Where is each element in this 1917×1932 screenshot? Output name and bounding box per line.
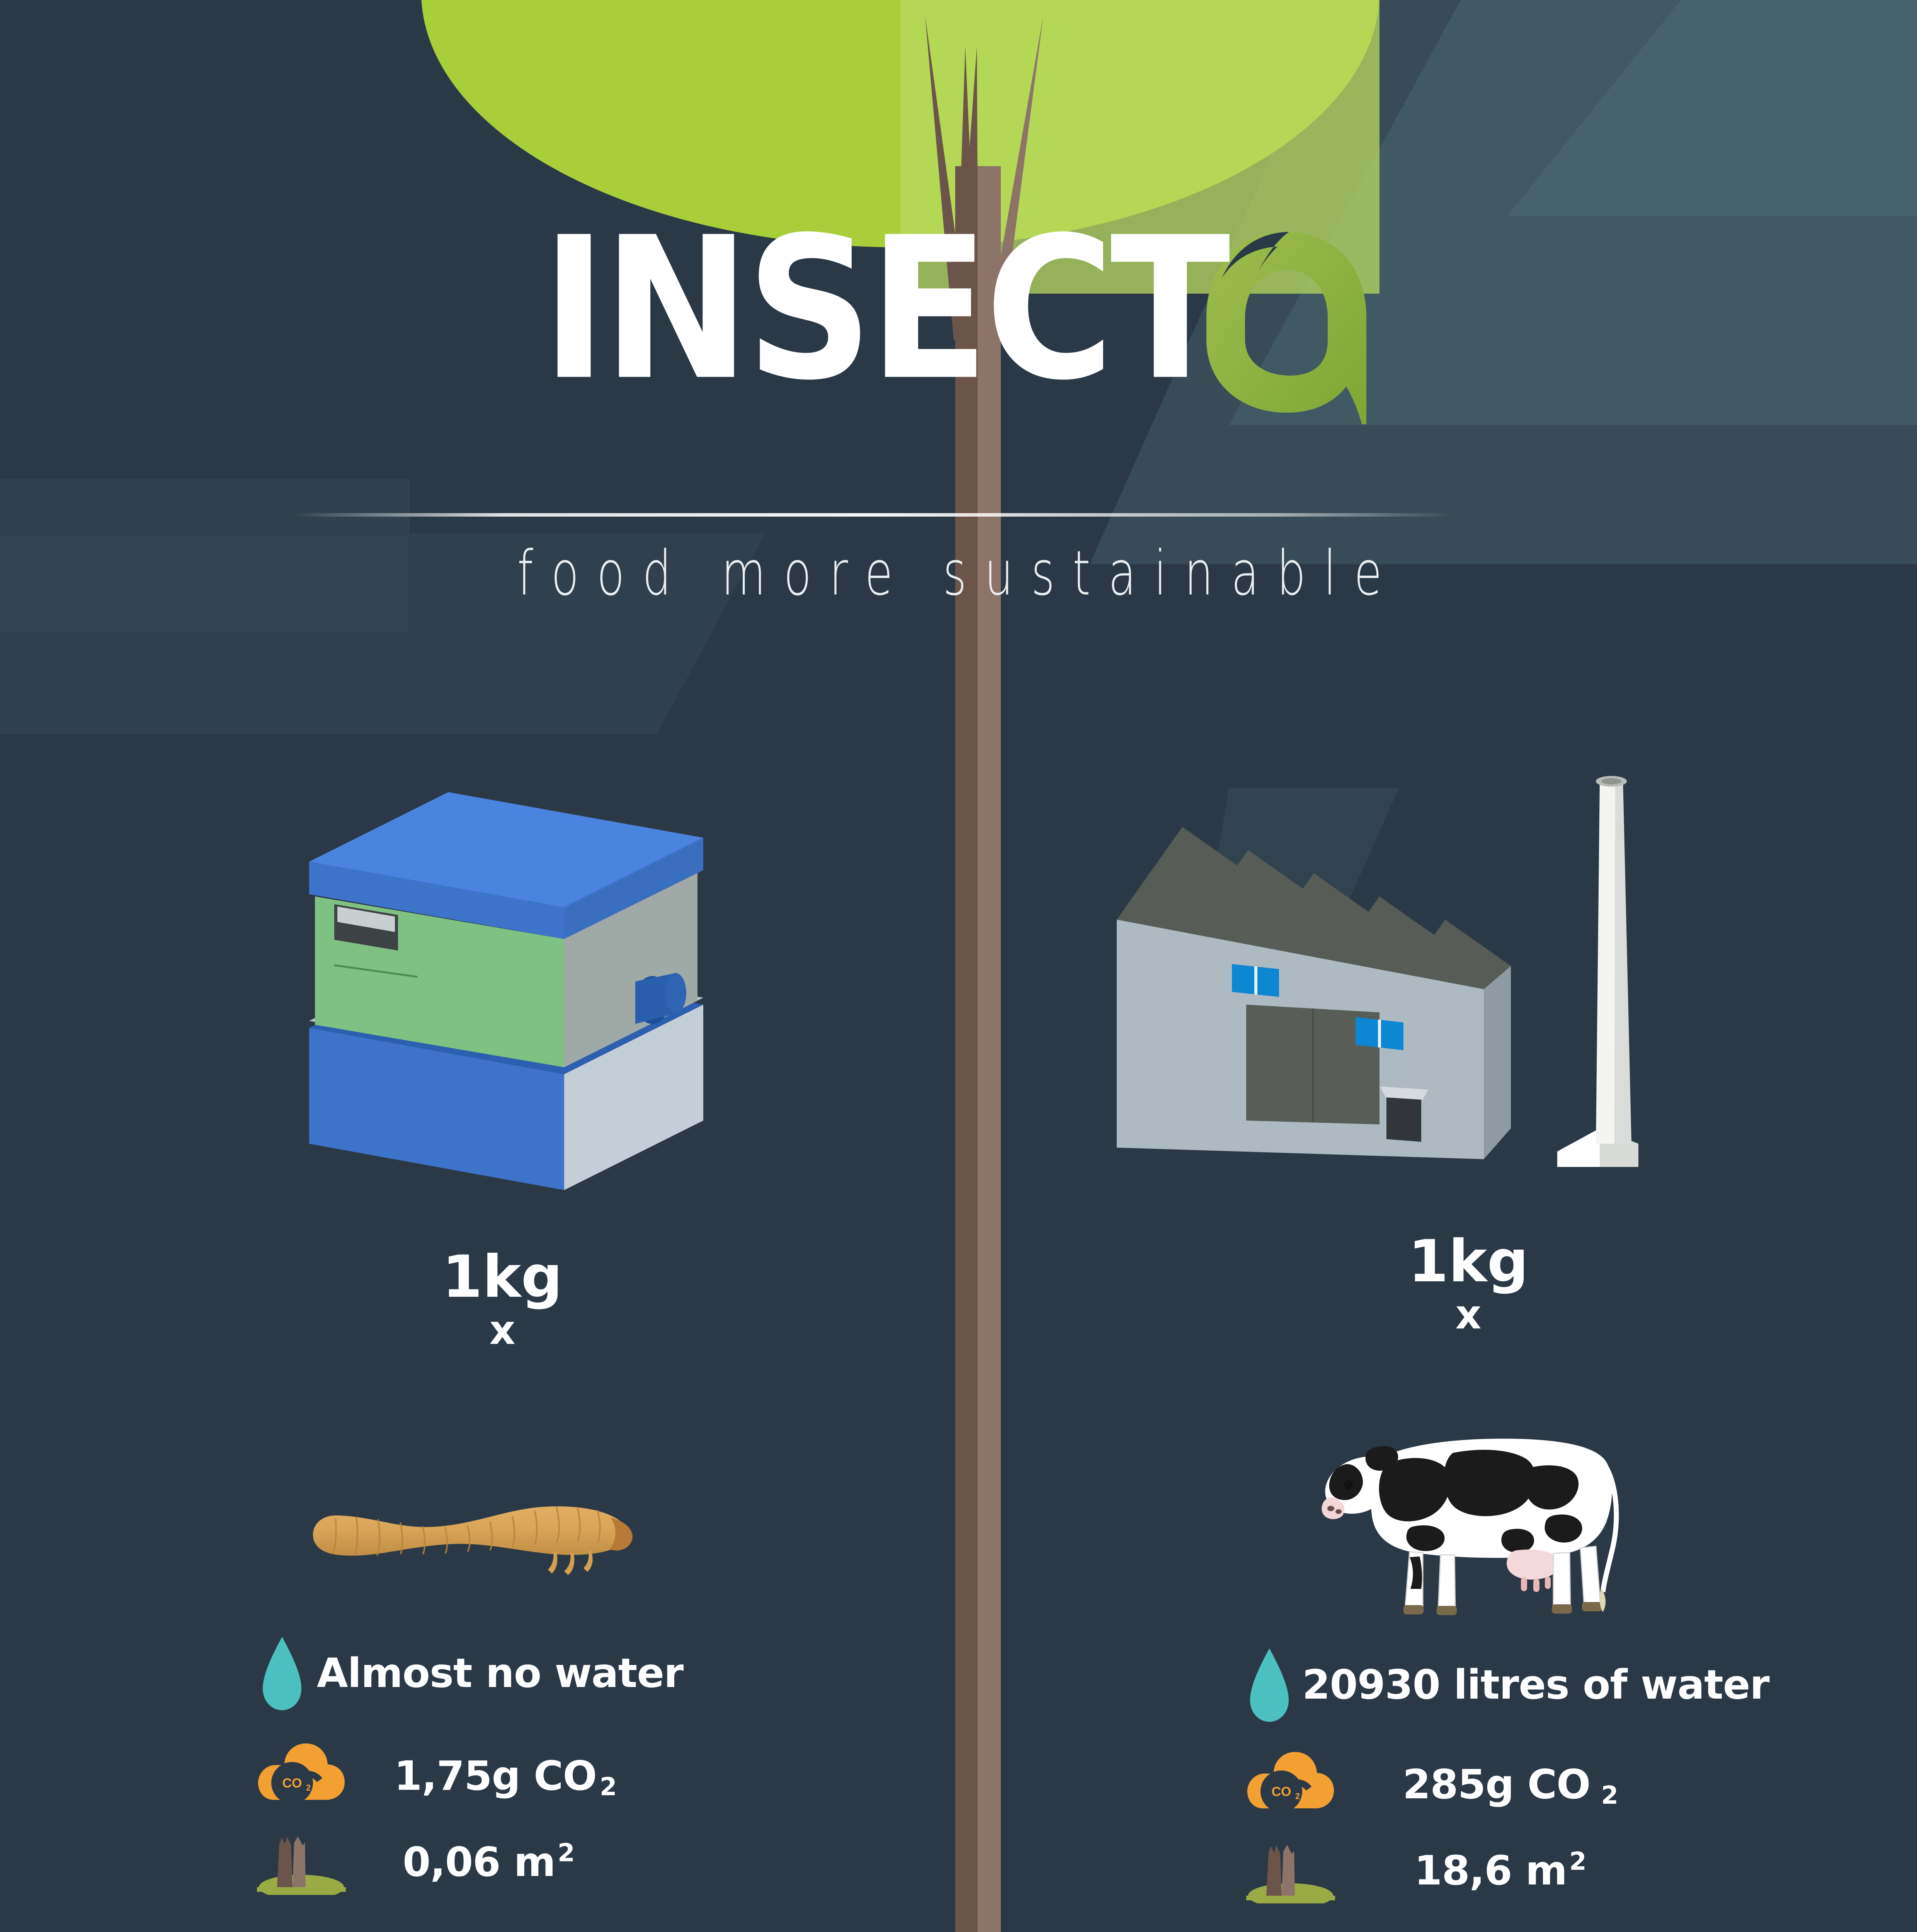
svg-text:2: 2 bbox=[306, 1783, 311, 1793]
logo-wordmark: INSECT bbox=[541, 216, 1226, 403]
left-stats-list: Almost no water CO 2 1,75g CO2 bbox=[247, 1634, 683, 1895]
svg-text:2: 2 bbox=[1295, 1791, 1300, 1801]
land-stumps-icon bbox=[247, 1829, 356, 1895]
right-multiplier: x bbox=[1252, 1291, 1685, 1339]
stat-row-water: 20930 litres of water bbox=[1237, 1646, 1769, 1723]
land-stumps-icon bbox=[1237, 1838, 1345, 1903]
left-amount-value: 1kg bbox=[286, 1248, 719, 1306]
water-drop-icon bbox=[247, 1634, 317, 1712]
stat-row-land: 0,06 m2 bbox=[247, 1829, 683, 1895]
water-drop-icon bbox=[1237, 1646, 1302, 1723]
svg-text:CO: CO bbox=[1272, 1784, 1291, 1799]
stat-land-number: 0,06 m bbox=[403, 1838, 555, 1886]
stat-co2-number: 1,75g CO bbox=[394, 1752, 597, 1799]
right-amount-label: 1kg x bbox=[1252, 1233, 1685, 1339]
stat-row-co2: CO 2 1,75g CO2 bbox=[247, 1742, 683, 1811]
stat-land-superscript: 2 bbox=[1567, 1847, 1586, 1876]
mealworm-image bbox=[286, 1468, 645, 1584]
left-amount-label: 1kg x bbox=[286, 1248, 719, 1354]
stat-land-superscript: 2 bbox=[555, 1839, 575, 1867]
stat-land-number: 18,6 m bbox=[1414, 1847, 1567, 1894]
co2-cloud-icon: CO 2 bbox=[247, 1742, 356, 1811]
right-amount-value: 1kg bbox=[1252, 1233, 1685, 1291]
stat-row-land: 18,6 m2 bbox=[1237, 1838, 1769, 1903]
stat-land-value: 18,6 m2 bbox=[1345, 1847, 1586, 1894]
brand-logo: INSECT bbox=[0, 216, 1917, 425]
insect-rearing-box-illustration bbox=[286, 734, 719, 1190]
stat-co2-subscript: 2 bbox=[597, 1773, 617, 1801]
infographic-poster: INSECT food more sustainable bbox=[0, 0, 1917, 1932]
stat-co2-value: 285g CO2 bbox=[1345, 1761, 1618, 1810]
stat-co2-subscript: 2 bbox=[1590, 1781, 1618, 1810]
stat-co2-value: 1,75g CO2 bbox=[356, 1752, 617, 1801]
logo-divider-rule bbox=[294, 513, 1453, 517]
factory-building-illustration bbox=[1086, 757, 1673, 1167]
stat-land-value: 0,06 m2 bbox=[356, 1838, 575, 1886]
stat-co2-number: 285g CO bbox=[1403, 1761, 1590, 1808]
stat-row-co2: CO 2 285g CO2 bbox=[1237, 1750, 1769, 1820]
cow-image bbox=[1287, 1399, 1642, 1615]
right-stats-list: 20930 litres of water CO 2 285g CO2 bbox=[1237, 1646, 1769, 1903]
stat-water-value: 20930 litres of water bbox=[1302, 1661, 1769, 1708]
stat-water-value: Almost no water bbox=[317, 1650, 683, 1697]
brand-tagline: food more sustainable bbox=[0, 537, 1917, 609]
co2-cloud-icon: CO 2 bbox=[1237, 1750, 1345, 1820]
svg-text:CO: CO bbox=[282, 1776, 302, 1791]
left-multiplier: x bbox=[286, 1306, 719, 1354]
stat-row-water: Almost no water bbox=[247, 1634, 683, 1712]
